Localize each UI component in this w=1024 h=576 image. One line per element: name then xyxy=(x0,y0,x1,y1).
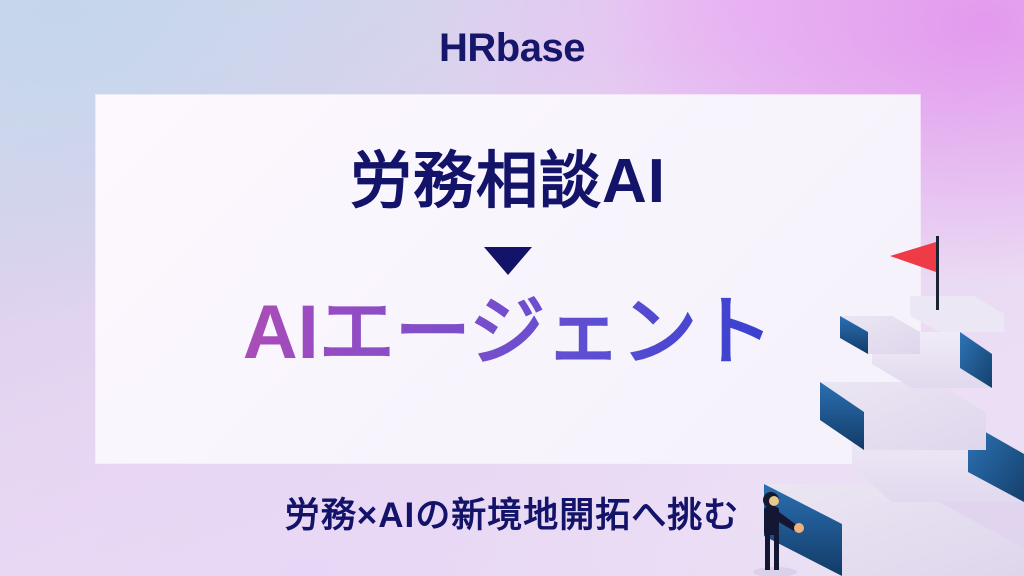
slide-canvas: HRbase 労務相談AI AIエージェント 労務×AIの新境地開拓へ挑む xyxy=(0,0,1024,576)
stair-side-4 xyxy=(960,332,992,388)
headline-gradient: AIエージェント xyxy=(96,290,920,375)
triangle-down-icon xyxy=(484,247,532,275)
brand-logo: HRbase xyxy=(0,26,1024,71)
tagline: 労務×AIの新境地開拓へ挑む xyxy=(0,487,1024,538)
flag-pole-icon xyxy=(936,236,939,310)
hero-card: 労務相談AI AIエージェント xyxy=(96,95,920,463)
summit-platform xyxy=(910,296,1004,332)
page-title: 労務相談AI xyxy=(96,151,920,213)
